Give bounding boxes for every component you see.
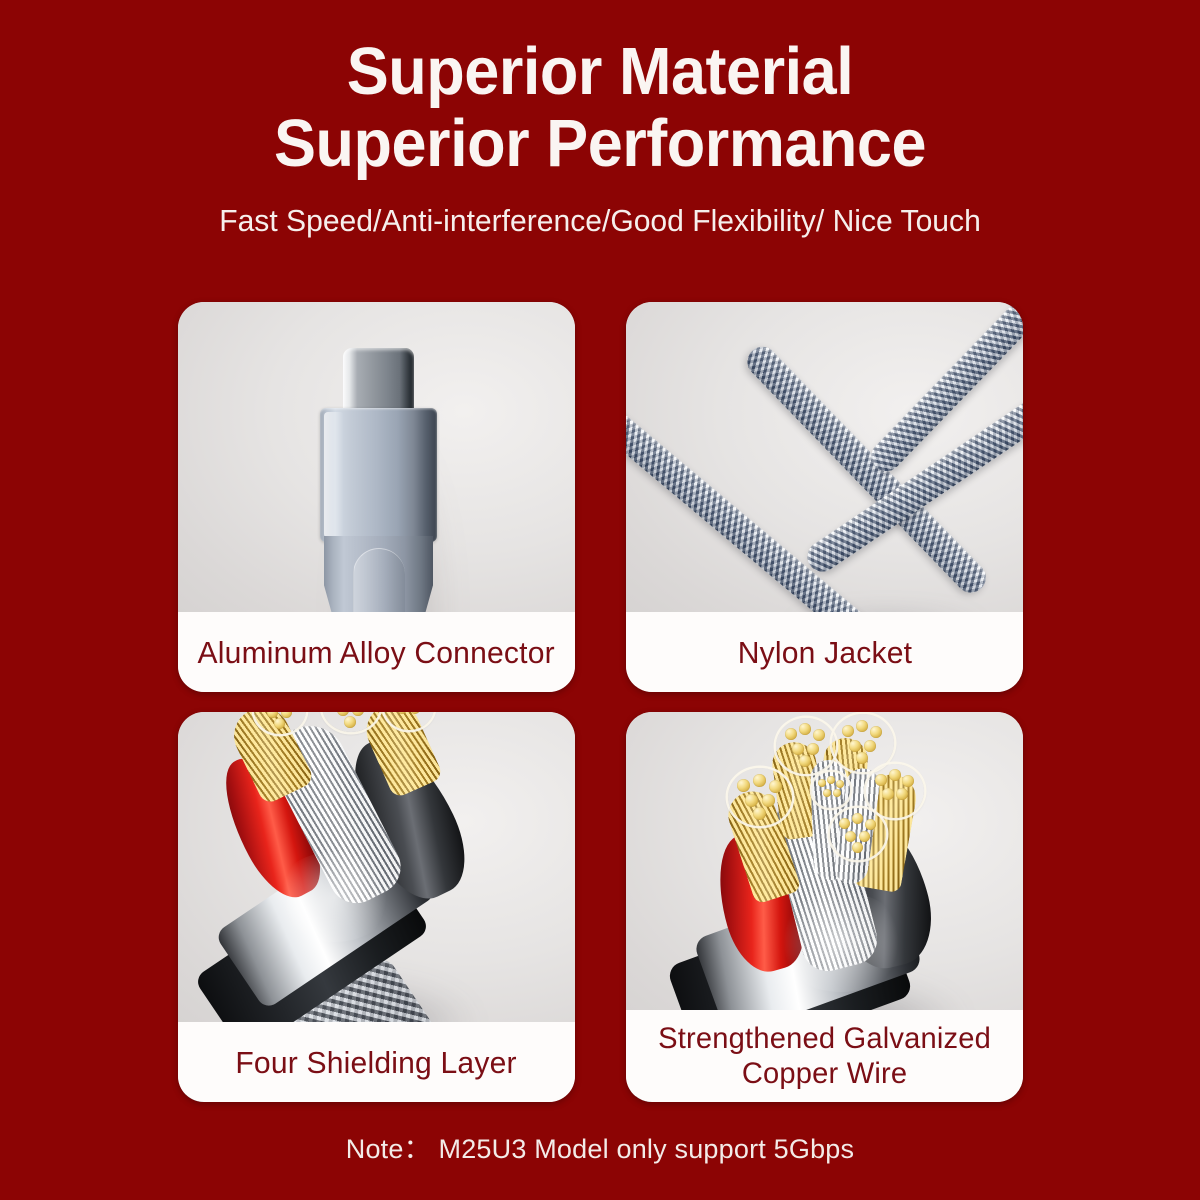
usb-c-tip-icon: [343, 348, 414, 414]
page-title-line-2: Superior Performance: [36, 108, 1164, 180]
feature-card-four-shielding-layer[interactable]: Four Shielding Layer: [178, 712, 575, 1102]
feature-label-four-shielding-layer: Four Shielding Layer: [236, 1045, 517, 1080]
feature-label-strengthened-galvanized-copper-wire: Strengthened Galvanized Copper Wire: [658, 1021, 991, 1091]
feature-label-band: Aluminum Alloy Connector: [178, 612, 575, 692]
feature-label-band: Nylon Jacket: [626, 612, 1023, 692]
page-title-line-1: Superior Material: [36, 36, 1164, 108]
feature-card-aluminum-alloy-connector[interactable]: Aluminum Alloy Connector: [178, 302, 575, 692]
feature-card-strengthened-galvanized-copper-wire[interactable]: Strengthened Galvanized Copper Wire: [626, 712, 1023, 1102]
feature-grid: Aluminum Alloy Connector Nylon Jacket: [178, 302, 1023, 1102]
product-feature-page: { "theme": { "background": "#8C0404", "c…: [0, 0, 1200, 1200]
footer-note: Note： M25U3 Model only support 5Gbps: [0, 1127, 1200, 1166]
feature-label-nylon-jacket: Nylon Jacket: [737, 635, 911, 670]
feature-label-band: Strengthened Galvanized Copper Wire: [626, 1010, 1023, 1102]
feature-label-aluminum-alloy-connector: Aluminum Alloy Connector: [198, 635, 555, 670]
page-header: Superior Material Superior Performance F…: [0, 0, 1200, 240]
feature-card-nylon-jacket[interactable]: Nylon Jacket: [626, 302, 1023, 692]
page-subtitle: Fast Speed/Anti-interference/Good Flexib…: [18, 202, 1182, 240]
feature-label-band: Four Shielding Layer: [178, 1022, 575, 1102]
